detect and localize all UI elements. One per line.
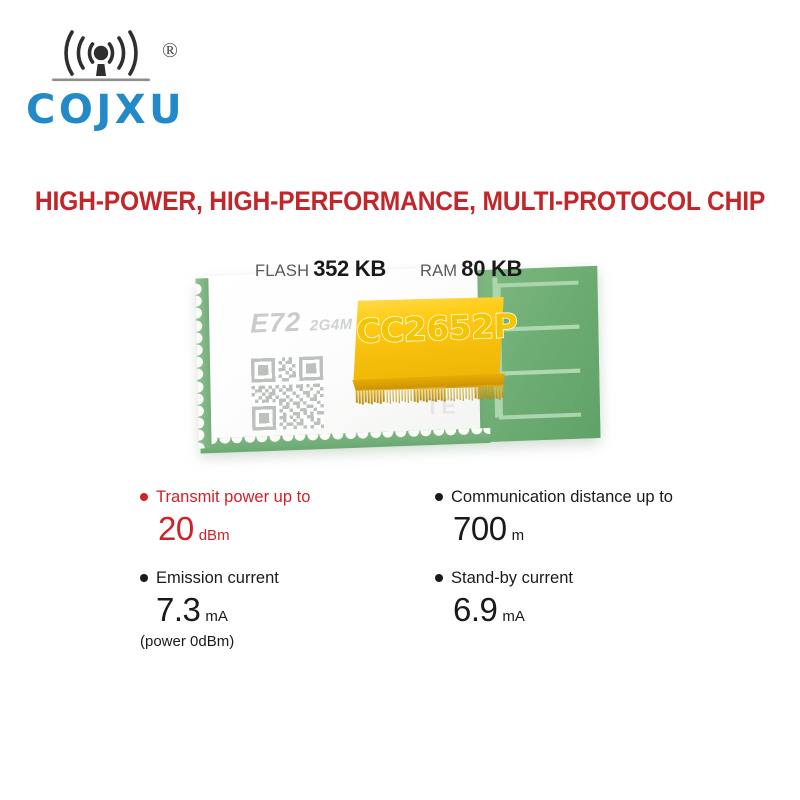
feature-emission-current-note: (power 0dBm) <box>140 633 405 650</box>
brand-logo: ® COJXU <box>26 18 226 138</box>
ic-chip: CC2652P <box>346 295 513 411</box>
feature-communication-distance-unit: m <box>512 528 525 543</box>
qr-code-icon <box>251 356 324 431</box>
spec-ram-label: RAM <box>420 262 457 281</box>
bullet-dot-icon <box>140 493 148 501</box>
bullet-dot-icon <box>435 574 443 582</box>
feature-standby-current-value: 6.9 mA <box>435 593 700 626</box>
feature-communication-distance-label: Communication distance up to <box>451 488 673 506</box>
silkscreen-model-main: E72 <box>250 307 302 339</box>
feature-standby-current-unit: mA <box>502 609 525 624</box>
feature-standby-current-label: Stand-by current <box>451 569 573 587</box>
spec-ram: RAM 80 KB <box>420 256 522 282</box>
feature-transmit-power-label: Transmit power up to <box>156 488 310 506</box>
spec-flash: FLASH 352 KB <box>255 256 386 282</box>
brand-wordmark: COJXU <box>26 90 185 130</box>
feature-standby-current: Stand-by current 6.9 mA <box>435 569 700 650</box>
bullet-dot-icon <box>140 574 148 582</box>
feature-communication-distance: Communication distance up to 700 m <box>435 488 700 545</box>
feature-transmit-power-unit: dBm <box>199 528 230 543</box>
spec-ram-value: 80 KB <box>461 256 522 282</box>
page-headline: HIGH-POWER, HIGH-PERFORMANCE, MULTI-PROT… <box>28 186 772 217</box>
feature-standby-current-number: 6.9 <box>453 593 497 626</box>
bullet-dot-icon <box>435 493 443 501</box>
feature-transmit-power-head: Transmit power up to <box>140 488 405 506</box>
silkscreen-model: E72 2G4M <box>250 307 353 338</box>
feature-transmit-power-value: 20 dBm <box>140 512 405 545</box>
ic-chip-label: CC2652P <box>356 309 507 347</box>
product-module-image: E72 2G4M TE TE <box>185 255 625 470</box>
feature-transmit-power: Transmit power up to 20 dBm <box>140 488 405 545</box>
antenna-signal-icon <box>42 24 160 86</box>
registered-trademark-symbol: ® <box>162 40 178 61</box>
feature-emission-current: Emission current 7.3 mA (power 0dBm) <box>140 569 405 650</box>
feature-communication-distance-head: Communication distance up to <box>435 488 700 506</box>
feature-list: Transmit power up to 20 dBm Communicatio… <box>140 488 700 650</box>
module-shield-face: E72 2G4M TE TE <box>205 266 480 444</box>
feature-emission-current-value: 7.3 mA <box>140 593 405 626</box>
feature-communication-distance-number: 700 <box>453 512 507 545</box>
memory-spec-row: FLASH 352 KB RAM 80 KB <box>255 256 555 284</box>
feature-emission-current-label: Emission current <box>156 569 279 587</box>
feature-emission-current-unit: mA <box>205 609 228 624</box>
feature-transmit-power-number: 20 <box>158 512 194 545</box>
spec-flash-value: 352 KB <box>313 256 386 282</box>
feature-standby-current-head: Stand-by current <box>435 569 700 587</box>
feature-emission-current-number: 7.3 <box>156 593 200 626</box>
feature-emission-current-head: Emission current <box>140 569 405 587</box>
spec-flash-label: FLASH <box>255 262 309 281</box>
feature-communication-distance-value: 700 m <box>435 512 700 545</box>
